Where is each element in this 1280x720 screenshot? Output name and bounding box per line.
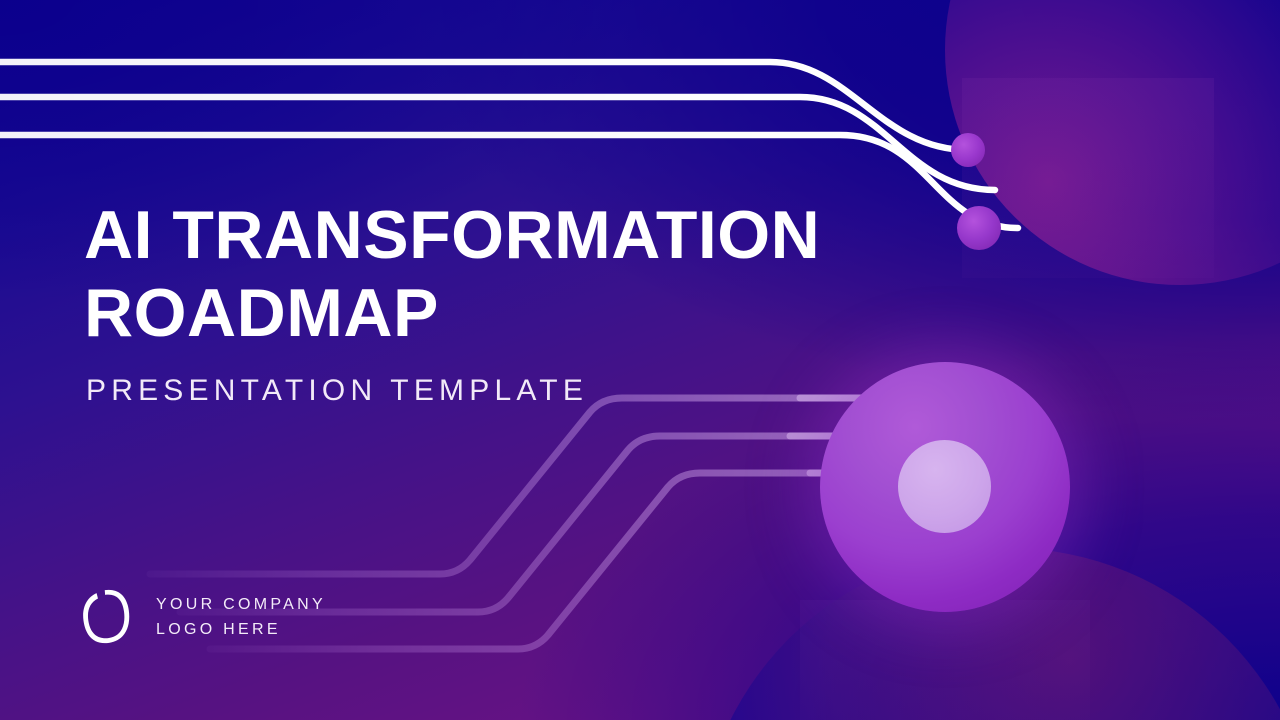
company-logo-label: YOUR COMPANY LOGO HERE [156, 592, 326, 642]
title-block: AI TRANSFORMATION ROADMAP PRESENTATION T… [84, 196, 844, 408]
node-dot-lower [957, 206, 1001, 250]
page-title: AI TRANSFORMATION ROADMAP [84, 196, 844, 352]
white-line-middle [0, 97, 995, 190]
node-dot-upper [951, 133, 985, 167]
company-logo-block: YOUR COMPANY LOGO HERE [78, 586, 326, 648]
page-subtitle: PRESENTATION TEMPLATE [86, 374, 844, 408]
squircle-ring-logo-icon [78, 586, 134, 648]
presentation-slide: AI TRANSFORMATION ROADMAP PRESENTATION T… [0, 0, 1280, 720]
